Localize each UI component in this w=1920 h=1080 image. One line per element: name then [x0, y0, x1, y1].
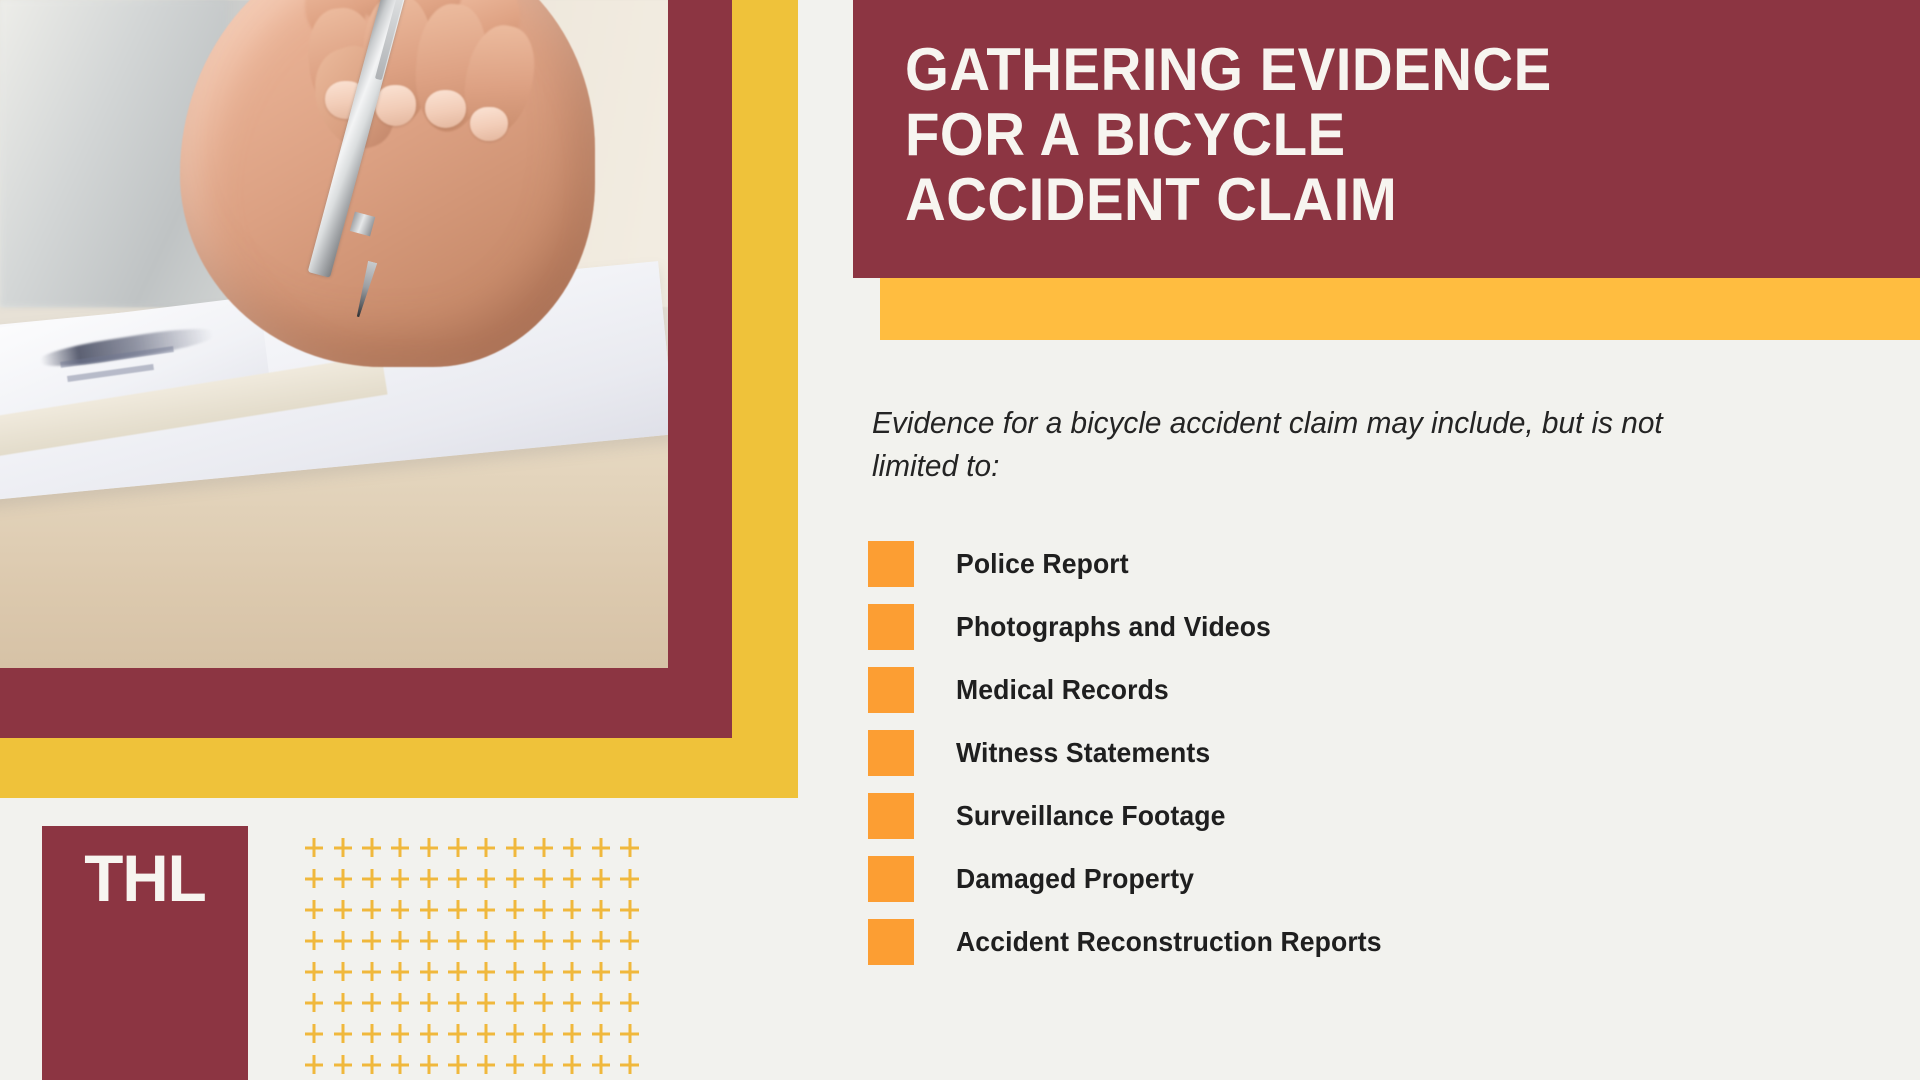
plus-icon	[300, 956, 329, 987]
list-item-label: Witness Statements	[956, 737, 1210, 769]
hero-photo	[0, 0, 668, 668]
plus-icon	[300, 1049, 329, 1080]
plus-icon	[443, 987, 472, 1018]
plus-icon	[501, 1049, 530, 1080]
title-accent-bar	[880, 278, 1920, 340]
plus-icon	[615, 987, 644, 1018]
plus-icon	[329, 894, 358, 925]
plus-icon	[386, 894, 415, 925]
plus-icon	[386, 1018, 415, 1049]
plus-icon	[615, 925, 644, 956]
list-item-label: Medical Records	[956, 674, 1169, 706]
list-item-label: Surveillance Footage	[956, 800, 1225, 832]
bullet-square-icon	[868, 730, 914, 776]
infographic-canvas: GATHERING EVIDENCEFOR A BICYCLEACCIDENT …	[0, 0, 1920, 1080]
page-title: GATHERING EVIDENCEFOR A BICYCLEACCIDENT …	[905, 38, 1822, 232]
plus-icon	[329, 1018, 358, 1049]
plus-icon	[472, 987, 501, 1018]
plus-icon	[415, 832, 444, 863]
plus-icon	[386, 1049, 415, 1080]
bullet-square-icon	[868, 856, 914, 902]
plus-icon	[300, 863, 329, 894]
bullet-square-icon	[868, 793, 914, 839]
plus-icon	[558, 925, 587, 956]
plus-icon	[615, 956, 644, 987]
plus-icon	[329, 956, 358, 987]
plus-icon	[472, 894, 501, 925]
plus-icon	[415, 863, 444, 894]
plus-icon	[558, 1049, 587, 1080]
plus-icon	[501, 1018, 530, 1049]
plus-icon	[472, 925, 501, 956]
plus-icon	[415, 956, 444, 987]
plus-icon	[300, 832, 329, 863]
logo-text: THL	[45, 840, 245, 916]
plus-icon	[472, 1049, 501, 1080]
plus-icon	[386, 832, 415, 863]
plus-icon	[529, 894, 558, 925]
plus-icon	[501, 925, 530, 956]
fingernail	[375, 85, 416, 126]
plus-icon	[529, 956, 558, 987]
list-item: Damaged Property	[868, 853, 1868, 904]
plus-icon	[386, 863, 415, 894]
plus-pattern-decoration	[300, 832, 644, 1080]
plus-icon	[529, 925, 558, 956]
plus-icon	[472, 832, 501, 863]
plus-icon	[443, 925, 472, 956]
plus-icon	[558, 1018, 587, 1049]
plus-icon	[357, 863, 386, 894]
plus-icon	[529, 832, 558, 863]
list-item: Surveillance Footage	[868, 790, 1868, 841]
fingernail	[470, 107, 507, 141]
plus-icon	[529, 863, 558, 894]
plus-icon	[329, 925, 358, 956]
plus-icon	[329, 863, 358, 894]
plus-icon	[587, 987, 616, 1018]
frame-bar-maroon-horizontal	[0, 668, 732, 738]
plus-icon	[529, 1049, 558, 1080]
plus-icon	[501, 894, 530, 925]
plus-icon	[300, 925, 329, 956]
plus-icon	[558, 894, 587, 925]
plus-icon	[587, 1049, 616, 1080]
plus-icon	[558, 832, 587, 863]
list-item: Medical Records	[868, 664, 1868, 715]
thl-logo: THL	[42, 826, 248, 1080]
plus-icon	[443, 956, 472, 987]
plus-icon	[443, 894, 472, 925]
plus-icon	[587, 956, 616, 987]
plus-icon	[615, 1049, 644, 1080]
plus-icon	[529, 1018, 558, 1049]
list-item-label: Damaged Property	[956, 863, 1194, 895]
plus-icon	[443, 1049, 472, 1080]
intro-paragraph: Evidence for a bicycle accident claim ma…	[872, 402, 1736, 488]
plus-icon	[615, 894, 644, 925]
plus-icon	[587, 832, 616, 863]
bullet-square-icon	[868, 919, 914, 965]
plus-icon	[615, 1018, 644, 1049]
plus-icon	[357, 987, 386, 1018]
list-item: Photographs and Videos	[868, 601, 1868, 652]
plus-icon	[300, 987, 329, 1018]
plus-icon	[501, 863, 530, 894]
plus-icon	[329, 832, 358, 863]
plus-icon	[329, 987, 358, 1018]
plus-icon	[443, 863, 472, 894]
title-block: GATHERING EVIDENCEFOR A BICYCLEACCIDENT …	[853, 0, 1920, 278]
plus-icon	[415, 894, 444, 925]
plus-icon	[300, 894, 329, 925]
plus-icon	[587, 863, 616, 894]
bullet-square-icon	[868, 541, 914, 587]
fingernail	[425, 90, 466, 128]
bullet-square-icon	[868, 667, 914, 713]
list-item-label: Photographs and Videos	[956, 611, 1271, 643]
plus-icon	[300, 1018, 329, 1049]
plus-icon	[615, 832, 644, 863]
frame-bar-yellow-vertical	[732, 0, 798, 798]
plus-icon	[357, 956, 386, 987]
plus-icon	[415, 987, 444, 1018]
plus-icon	[558, 863, 587, 894]
plus-icon	[415, 1018, 444, 1049]
list-item-label: Accident Reconstruction Reports	[956, 926, 1382, 958]
frame-bar-maroon-vertical	[668, 0, 732, 738]
plus-icon	[615, 863, 644, 894]
plus-icon	[558, 987, 587, 1018]
list-item: Accident Reconstruction Reports	[868, 916, 1868, 967]
plus-icon	[357, 1049, 386, 1080]
plus-icon	[415, 925, 444, 956]
list-item: Witness Statements	[868, 727, 1868, 778]
plus-icon	[558, 956, 587, 987]
plus-icon	[329, 1049, 358, 1080]
evidence-list: Police Report Photographs and Videos Med…	[868, 538, 1868, 979]
plus-icon	[443, 1018, 472, 1049]
list-item: Police Report	[868, 538, 1868, 589]
plus-icon	[386, 987, 415, 1018]
plus-icon	[443, 832, 472, 863]
plus-icon	[472, 956, 501, 987]
plus-icon	[357, 1018, 386, 1049]
plus-icon	[501, 832, 530, 863]
plus-icon	[357, 832, 386, 863]
plus-icon	[357, 925, 386, 956]
plus-icon	[587, 894, 616, 925]
bullet-square-icon	[868, 604, 914, 650]
plus-icon	[529, 987, 558, 1018]
plus-icon	[472, 863, 501, 894]
plus-icon	[587, 925, 616, 956]
plus-icon	[587, 1018, 616, 1049]
frame-bar-yellow-horizontal	[0, 738, 798, 798]
plus-icon	[501, 987, 530, 1018]
plus-icon	[357, 894, 386, 925]
plus-icon	[386, 925, 415, 956]
plus-icon	[386, 956, 415, 987]
plus-icon	[415, 1049, 444, 1080]
list-item-label: Police Report	[956, 548, 1129, 580]
plus-icon	[501, 956, 530, 987]
plus-icon	[472, 1018, 501, 1049]
